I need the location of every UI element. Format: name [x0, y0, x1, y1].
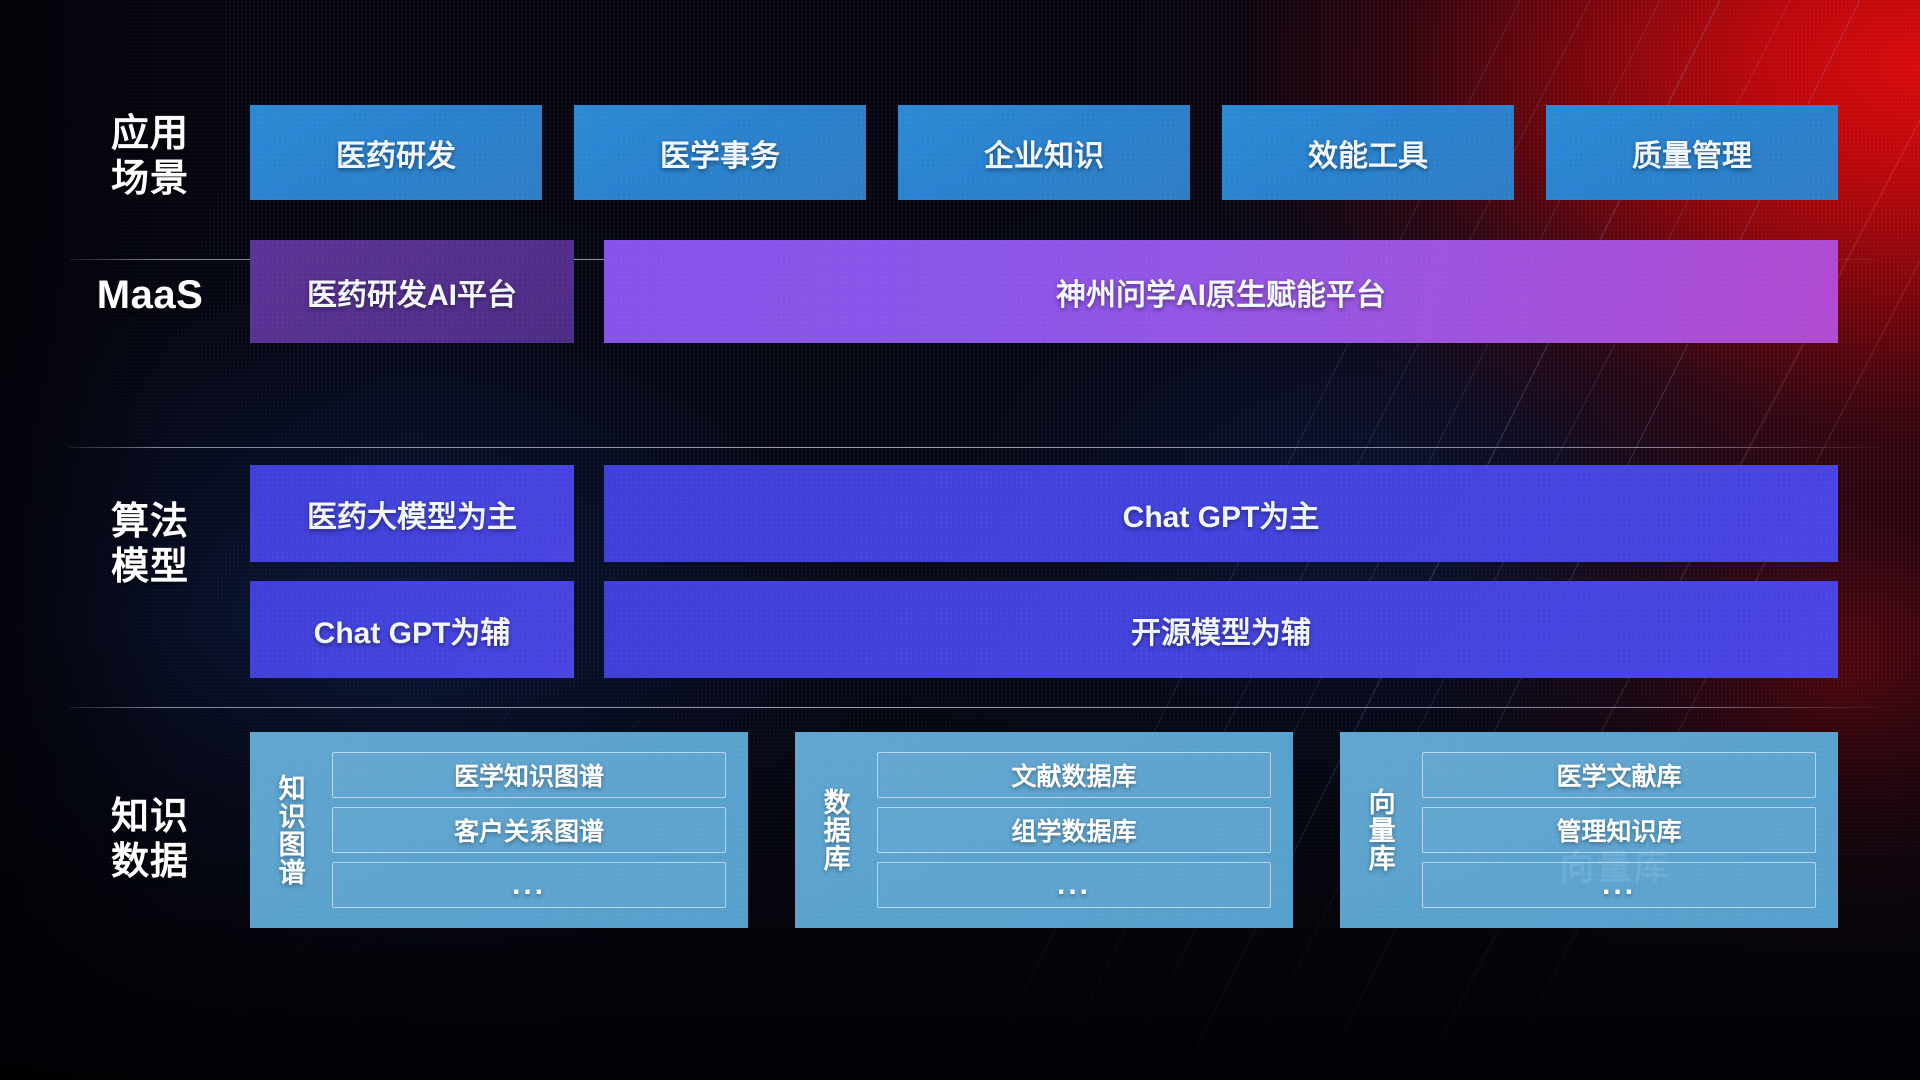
app-scenario-label-4: 效能工具 [1308, 131, 1428, 175]
app-scenario-box-3[interactable]: 企业知识 [898, 105, 1190, 200]
algorithm-box-primary-left[interactable]: 医药大模型为主 [250, 465, 574, 562]
knowledge-panel-title-2: 数据库 [795, 732, 873, 928]
algorithm-box-primary-right[interactable]: Chat GPT为主 [604, 465, 1838, 562]
app-scenario-box-1[interactable]: 医药研发 [250, 105, 542, 200]
knowledge-panel-2[interactable]: 数据库 文献数据库 组学数据库 ... [795, 732, 1293, 928]
algorithm-label-primary-left: 医药大模型为主 [307, 492, 517, 536]
algorithm-label-secondary-left: Chat GPT为辅 [314, 608, 511, 652]
row-label-knowledge-data: 知识 数据 [70, 795, 230, 885]
maas-platform-label-right: 神州问学AI原生赋能平台 [1056, 270, 1386, 314]
knowledge-panel-items-2: 文献数据库 组学数据库 ... [873, 732, 1293, 928]
app-scenario-box-2[interactable]: 医学事务 [574, 105, 866, 200]
knowledge-item-2-3[interactable]: ... [877, 862, 1271, 908]
algorithm-label-primary-right: Chat GPT为主 [1123, 492, 1320, 536]
knowledge-panel-title-3: 向量库 [1340, 732, 1418, 928]
app-scenario-label-2: 医学事务 [660, 131, 780, 175]
app-scenario-box-5[interactable]: 质量管理 [1546, 105, 1838, 200]
knowledge-panel-items-3: 医学文献库 管理知识库 ... [1418, 732, 1838, 928]
knowledge-item-1-2[interactable]: 客户关系图谱 [332, 807, 726, 853]
app-scenario-label-5: 质量管理 [1632, 131, 1752, 175]
row-label-algorithm-model: 算法 模型 [70, 500, 230, 590]
algorithm-box-secondary-left[interactable]: Chat GPT为辅 [250, 581, 574, 678]
divider-3 [70, 707, 1882, 708]
algorithm-label-secondary-right: 开源模型为辅 [1131, 608, 1311, 652]
knowledge-panel-items-1: 医学知识图谱 客户关系图谱 ... [328, 732, 748, 928]
knowledge-item-3-2[interactable]: 管理知识库 [1422, 807, 1816, 853]
knowledge-item-2-2[interactable]: 组学数据库 [877, 807, 1271, 853]
row-label-application-scenario: 应用 场景 [70, 112, 230, 202]
row-label-maas: MaaS [70, 272, 230, 319]
knowledge-panel-3[interactable]: 向量库 向量库 医学文献库 管理知识库 ... [1340, 732, 1838, 928]
maas-platform-box-left[interactable]: 医药研发AI平台 [250, 240, 574, 343]
maas-platform-box-right[interactable]: 神州问学AI原生赋能平台 [604, 240, 1838, 343]
knowledge-item-3-3[interactable]: ... [1422, 862, 1816, 908]
knowledge-panel-1[interactable]: 知识图谱 医学知识图谱 客户关系图谱 ... [250, 732, 748, 928]
knowledge-panel-title-1: 知识图谱 [250, 732, 328, 928]
knowledge-item-3-1[interactable]: 医学文献库 [1422, 752, 1816, 798]
knowledge-item-2-1[interactable]: 文献数据库 [877, 752, 1271, 798]
maas-platform-label-left: 医药研发AI平台 [307, 270, 517, 314]
algorithm-box-secondary-right[interactable]: 开源模型为辅 [604, 581, 1838, 678]
app-scenario-box-4[interactable]: 效能工具 [1222, 105, 1514, 200]
slide-canvas: 应用 场景 医药研发 医学事务 企业知识 效能工具 质量管理 MaaS 医药研发… [0, 0, 1920, 1080]
divider-2 [70, 447, 1882, 448]
knowledge-item-1-3[interactable]: ... [332, 862, 726, 908]
app-scenario-label-1: 医药研发 [336, 131, 456, 175]
knowledge-item-1-1[interactable]: 医学知识图谱 [332, 752, 726, 798]
app-scenario-label-3: 企业知识 [984, 131, 1104, 175]
